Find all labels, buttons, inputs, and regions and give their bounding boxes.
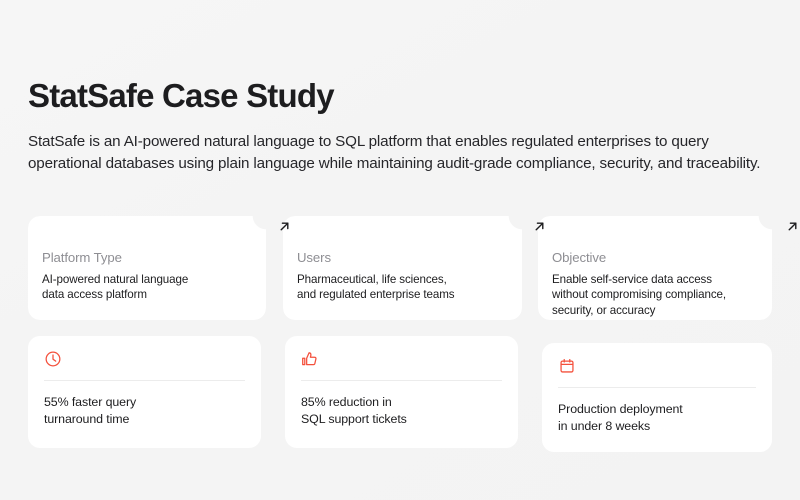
info-card-users[interactable]: Users Pharmaceutical, life sciences, and… (283, 216, 522, 320)
info-card-label: Objective (552, 250, 754, 266)
info-card-value: AI-powered natural language data access … (42, 272, 248, 303)
calendar-icon (558, 357, 576, 375)
info-card-value: Enable self-service data access without … (552, 272, 754, 318)
stat-card-deployment-time[interactable]: Production deployment in under 8 weeks (542, 343, 772, 452)
page-title: StatSafe Case Study (28, 78, 770, 115)
info-card-row: Platform Type AI-powered natural languag… (28, 216, 772, 320)
stat-card-text: Production deployment in under 8 weeks (558, 401, 756, 435)
page-root: StatSafe Case Study StatSafe is an AI-po… (0, 0, 800, 500)
thumbs-up-icon (301, 350, 319, 368)
stat-card-support-tickets[interactable]: 85% reduction in SQL support tickets (285, 336, 518, 448)
page-description: StatSafe is an AI-powered natural langua… (28, 131, 768, 176)
stat-card-text: 85% reduction in SQL support tickets (301, 394, 502, 428)
page-header: StatSafe Case Study StatSafe is an AI-po… (28, 78, 770, 176)
info-card-platform-type[interactable]: Platform Type AI-powered natural languag… (28, 216, 266, 320)
info-card-objective[interactable]: Objective Enable self-service data acces… (538, 216, 772, 320)
stat-card-text: 55% faster query turnaround time (44, 394, 245, 428)
stat-card-divider (44, 380, 245, 381)
clock-icon (44, 350, 62, 368)
info-card-value: Pharmaceutical, life sciences, and regul… (297, 272, 504, 303)
info-card-label: Platform Type (42, 250, 248, 266)
arrow-up-right-icon[interactable] (785, 219, 800, 234)
info-card-label: Users (297, 250, 504, 266)
stat-card-divider (558, 387, 756, 388)
stat-card-query-turnaround[interactable]: 55% faster query turnaround time (28, 336, 261, 448)
arrow-up-right-icon[interactable] (277, 219, 292, 234)
arrow-up-right-icon[interactable] (532, 219, 547, 234)
stat-card-divider (301, 380, 502, 381)
stat-card-row: 55% faster query turnaround time 85% red… (28, 336, 772, 452)
